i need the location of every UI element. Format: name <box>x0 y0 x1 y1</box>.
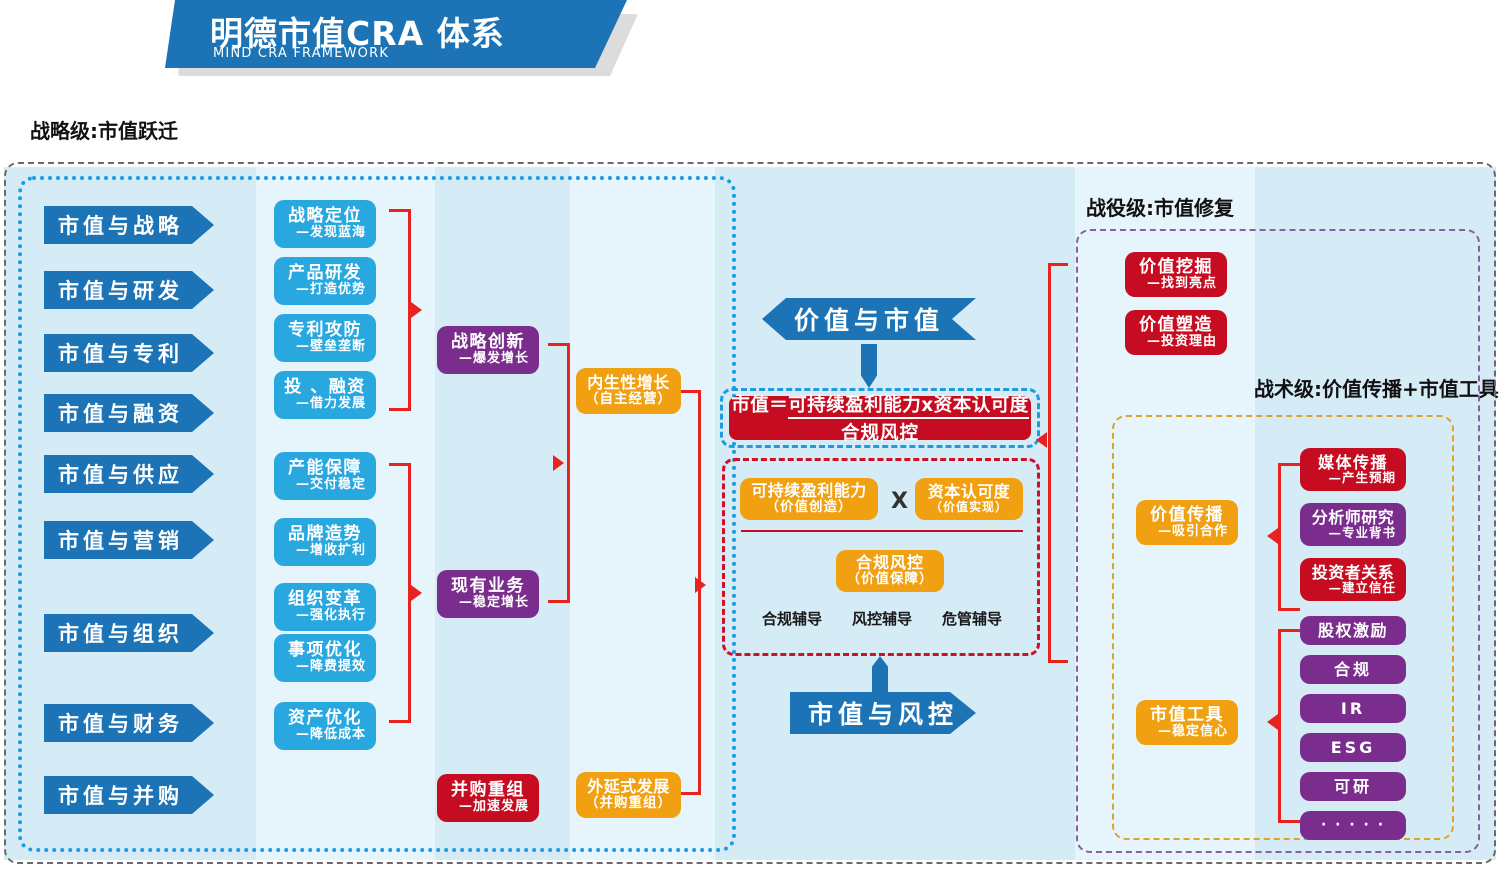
chip-title: 投资者关系 <box>1308 564 1398 582</box>
chip-subtitle: —吸引合作 <box>1144 525 1230 540</box>
chip-title: 价值传播 <box>1144 506 1230 525</box>
bracket-communication-items <box>1278 463 1300 611</box>
driver-chip-asset-optimization[interactable]: 资产优化 —降低成本 <box>274 702 376 750</box>
bracket-arrow-center-to-campaign <box>1036 432 1047 448</box>
sidebar-item-organization[interactable]: 市值与组织 <box>44 614 214 652</box>
sub-label-compliance: 合规辅导 <box>762 608 822 629</box>
chip-title: 内生性增长 <box>584 374 673 392</box>
chip-title: 战略定位 <box>282 207 368 226</box>
center-banner-marketcap-risk: 市值与风控 <box>790 692 976 734</box>
tool-item-compliance[interactable]: 合规 <box>1300 655 1406 684</box>
chip-subtitle: —爆发增长 <box>445 352 531 367</box>
driver-chip-strategy-positioning[interactable]: 战略定位 —发现蓝海 <box>274 200 376 248</box>
chip-title: 外延式发展 <box>584 778 673 796</box>
sidebar-item-strategy[interactable]: 市值与战略 <box>44 206 214 244</box>
multiply-operator: X <box>891 489 908 514</box>
chip-subtitle: （价值实现） <box>923 501 1015 514</box>
chip-title: 分析师研究 <box>1308 509 1398 527</box>
chip-subtitle: —打造优势 <box>282 283 368 298</box>
factor-chip-profitability[interactable]: 可持续盈利能力 （价值创造） <box>740 478 878 520</box>
chip-title: ESG <box>1331 739 1376 757</box>
bracket-strategy-innovation <box>389 209 411 411</box>
group-chip-ma-restructure[interactable]: 并购重组 —加速发展 <box>437 774 539 822</box>
campaign-chip-value-discovery[interactable]: 价值挖掘 —找到亮点 <box>1125 252 1227 297</box>
center-sub-labels: 合规辅导 风控辅导 危管辅导 <box>762 608 1002 629</box>
chip-subtitle: —降费提效 <box>282 660 368 675</box>
tactical-item-analyst[interactable]: 分析师研究 —专业背书 <box>1300 503 1406 546</box>
tactical-group-chip-tools[interactable]: 市值工具 —稳定信心 <box>1136 700 1238 745</box>
chip-title: 组织变革 <box>282 590 368 609</box>
chip-subtitle: （自主经营） <box>584 392 673 407</box>
chip-subtitle: —专业背书 <box>1308 526 1398 540</box>
chip-subtitle: —交付稳定 <box>282 478 368 493</box>
chip-subtitle: —投资理由 <box>1133 335 1219 350</box>
driver-chip-capacity[interactable]: 产能保障 —交付稳定 <box>274 452 376 500</box>
chip-title: 合规风控 <box>844 554 936 572</box>
chip-title: 产品研发 <box>282 264 368 283</box>
chip-title: 现有业务 <box>445 577 531 596</box>
chip-title: 媒体传播 <box>1308 454 1398 472</box>
chip-title: 资产优化 <box>282 709 368 728</box>
bracket-arrow-strategy-innovation <box>411 302 422 318</box>
chip-subtitle: （价值保障） <box>844 572 936 587</box>
chip-title: 市值工具 <box>1144 706 1230 725</box>
sidebar-item-finance[interactable]: 市值与财务 <box>44 704 214 742</box>
bracket-endogenous-growth <box>548 343 570 603</box>
tool-item-equity-incentive[interactable]: 股权激励 <box>1300 616 1406 645</box>
chip-subtitle: —产生预期 <box>1308 471 1398 485</box>
factor-chip-capital-recognition[interactable]: 资本认可度 （价值实现） <box>915 478 1023 520</box>
chip-subtitle: —找到亮点 <box>1133 277 1219 292</box>
chip-title: 资本认可度 <box>923 483 1015 501</box>
fraction-rule <box>741 530 1023 532</box>
factor-chip-compliance-risk[interactable]: 合规风控 （价值保障） <box>836 550 944 592</box>
sub-label-crisis: 危管辅导 <box>942 608 1002 629</box>
formula-prefix: 市值＝ <box>731 395 788 416</box>
bracket-arrow-communication <box>1267 528 1278 544</box>
section-title-strategic: 战略级:市值跃迁 <box>30 115 178 144</box>
group-chip-existing-business[interactable]: 现有业务 —稳定增长 <box>437 570 539 618</box>
chip-subtitle: —降低成本 <box>282 728 368 743</box>
bracket-existing-business <box>389 463 411 723</box>
bracket-arrow-tools <box>1267 714 1278 730</box>
tool-item-more[interactable]: · · · · · <box>1300 811 1406 840</box>
chip-title: 价值塑造 <box>1133 316 1219 335</box>
tool-item-ir[interactable]: IR <box>1300 694 1406 723</box>
driver-chip-product-rnd[interactable]: 产品研发 —打造优势 <box>274 257 376 305</box>
driver-chip-process-optimization[interactable]: 事项优化 —降费提效 <box>274 634 376 682</box>
chip-title: 可研 <box>1334 778 1372 796</box>
sidebar-item-ma[interactable]: 市值与并购 <box>44 776 214 814</box>
group-chip-strategy-innovation[interactable]: 战略创新 —爆发增长 <box>437 326 539 374</box>
chip-title: 产能保障 <box>282 459 368 478</box>
driver-chip-investment-financing[interactable]: 投 、融资 —借力发展 <box>274 371 376 419</box>
chip-title: · · · · · <box>1321 818 1385 834</box>
chip-title: 品牌造势 <box>282 525 368 544</box>
sidebar-item-patent[interactable]: 市值与专利 <box>44 334 214 372</box>
formula-numerator: 可持续盈利能力x资本认可度 <box>788 395 1028 419</box>
center-banner-label: 市值与风控 <box>808 695 958 731</box>
chip-title: 专利攻防 <box>282 321 368 340</box>
driver-chip-brand[interactable]: 品牌造势 —增收扩利 <box>274 518 376 566</box>
chip-title: 事项优化 <box>282 641 368 660</box>
chip-title: 合规 <box>1334 661 1372 679</box>
campaign-chip-value-shaping[interactable]: 价值塑造 —投资理由 <box>1125 310 1227 355</box>
chip-subtitle: （并购重组） <box>584 796 673 811</box>
tactical-group-chip-communication[interactable]: 价值传播 —吸引合作 <box>1136 500 1238 545</box>
bracket-center-to-campaign <box>1048 263 1068 663</box>
chip-subtitle: —发现蓝海 <box>282 226 368 241</box>
chip-title: 投 、融资 <box>282 378 368 397</box>
page-subtitle: MIND CRA FRAMEWORK <box>213 46 389 61</box>
driver-chip-org-change[interactable]: 组织变革 —强化执行 <box>274 583 376 631</box>
formula-box[interactable]: 市值＝可持续盈利能力x资本认可度 合规风控 <box>729 396 1031 440</box>
chip-title: 并购重组 <box>445 781 531 800</box>
tactical-item-ir[interactable]: 投资者关系 —建立信任 <box>1300 558 1406 601</box>
sidebar-item-rnd[interactable]: 市值与研发 <box>44 271 214 309</box>
sub-label-riskcontrol: 风控辅导 <box>852 608 912 629</box>
chip-subtitle: —壁垒垄断 <box>282 340 368 355</box>
driver-chip-patent-defense[interactable]: 专利攻防 —壁垒垄断 <box>274 314 376 362</box>
chip-subtitle: —强化执行 <box>282 609 368 624</box>
formula-numerator-line: 市值＝可持续盈利能力x资本认可度 <box>731 391 1028 417</box>
chip-subtitle: —借力发展 <box>282 397 368 412</box>
chip-subtitle: —稳定信心 <box>1144 725 1230 740</box>
bracket-arrow-existing-business <box>411 585 422 601</box>
tactical-item-media[interactable]: 媒体传播 —产生预期 <box>1300 448 1406 491</box>
chip-title: 战略创新 <box>445 333 531 352</box>
chip-subtitle: —加速发展 <box>445 800 531 815</box>
chip-subtitle: —建立信任 <box>1308 581 1398 595</box>
chip-subtitle: —稳定增长 <box>445 596 531 611</box>
tool-item-research[interactable]: 可研 <box>1300 772 1406 801</box>
chip-title: IR <box>1341 700 1365 718</box>
chip-title: 股权激励 <box>1318 622 1388 640</box>
chip-subtitle: —增收扩利 <box>282 544 368 559</box>
center-banner-label: 价值与市值 <box>794 301 944 337</box>
chip-subtitle: （价值创造） <box>748 500 870 515</box>
header-banner: 明德市值CRA 体系 MIND CRA FRAMEWORK <box>165 0 627 68</box>
center-banner-value-marketcap: 价值与市值 <box>762 298 976 340</box>
chip-title: 价值挖掘 <box>1133 258 1219 277</box>
tool-item-esg[interactable]: ESG <box>1300 733 1406 762</box>
sidebar-item-supply[interactable]: 市值与供应 <box>44 455 214 493</box>
sidebar-item-financing[interactable]: 市值与融资 <box>44 394 214 432</box>
chip-title: 可持续盈利能力 <box>748 482 870 500</box>
growth-chip-endogenous[interactable]: 内生性增长 （自主经营） <box>576 368 681 414</box>
formula-denominator: 合规风控 <box>841 419 919 445</box>
bracket-arrow-growth-to-center <box>695 577 706 593</box>
bracket-arrow-endogenous-growth <box>553 455 564 471</box>
sidebar-item-marketing[interactable]: 市值与营销 <box>44 521 214 559</box>
growth-chip-external[interactable]: 外延式发展 （并购重组） <box>576 772 681 818</box>
bracket-tool-items <box>1278 629 1300 823</box>
